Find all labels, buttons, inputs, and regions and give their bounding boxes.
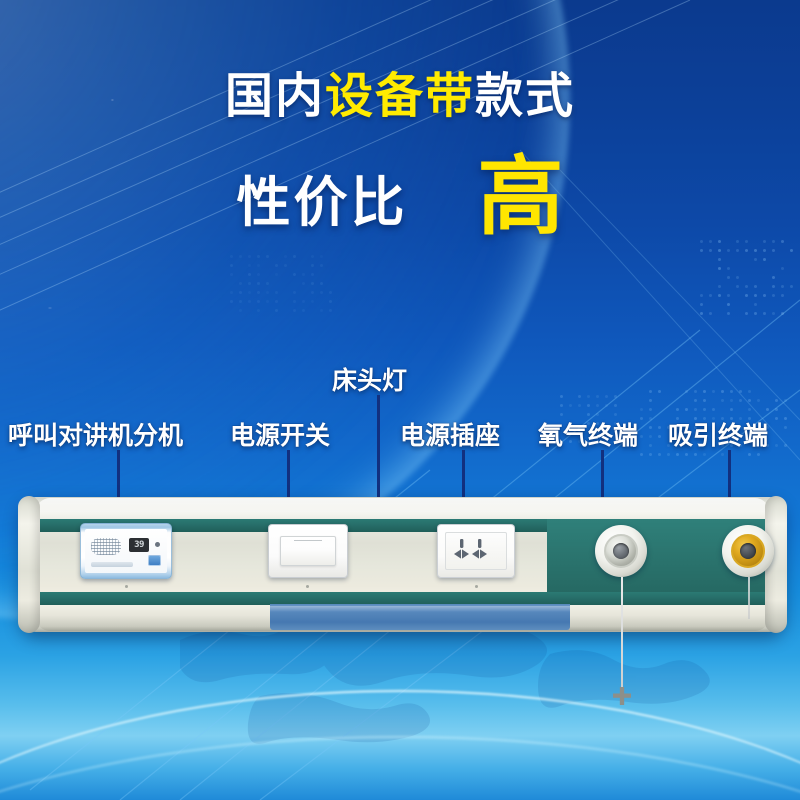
panel-screw	[475, 585, 478, 588]
oxygen-terminal-port[interactable]	[613, 543, 629, 559]
panel-end-cap-left	[18, 496, 40, 633]
speaker-grille-icon	[91, 538, 121, 555]
power-switch[interactable]	[268, 524, 348, 578]
intercom-faceplate: 39	[85, 529, 167, 573]
callout-label-suction: 吸引终端	[668, 416, 768, 452]
callout-label-power-switch: 电源开关	[230, 416, 330, 452]
bed-head-unit-panel: 39	[20, 497, 785, 632]
hanging-cord	[621, 577, 623, 705]
intercom-call-button[interactable]	[148, 555, 161, 566]
nurse-call-intercom[interactable]: 39	[80, 523, 172, 579]
callout-label-power-socket: 电源插座	[400, 416, 500, 452]
suction-terminal[interactable]	[722, 525, 774, 577]
panel-top-gloss	[36, 498, 769, 518]
promo-banner: 国内设备带款式 性价比 高 呼叫对讲机分机 电源开关 床头灯 电源插座 氧气终端…	[0, 0, 800, 800]
suction-terminal-port[interactable]	[740, 543, 756, 559]
socket-holes-icon	[451, 537, 501, 565]
intercom-slot	[91, 562, 133, 567]
suction-cord	[748, 577, 750, 619]
callout-label-bed-lamp: 床头灯	[332, 361, 407, 397]
callout-layer: 呼叫对讲机分机 电源开关 床头灯 电源插座 氧气终端 吸引终端	[0, 0, 800, 800]
callout-label-intercom: 呼叫对讲机分机	[8, 416, 183, 452]
status-led-icon	[155, 542, 160, 547]
oxygen-terminal[interactable]	[595, 525, 647, 577]
socket-faceplate	[445, 532, 507, 570]
switch-rocker[interactable]	[280, 536, 336, 566]
power-socket[interactable]	[437, 524, 515, 578]
panel-screw	[306, 585, 309, 588]
panel-blue-reflection	[270, 604, 570, 630]
panel-screw	[125, 585, 128, 588]
intercom-display: 39	[129, 538, 149, 552]
callout-label-oxygen: 氧气终端	[538, 416, 638, 452]
